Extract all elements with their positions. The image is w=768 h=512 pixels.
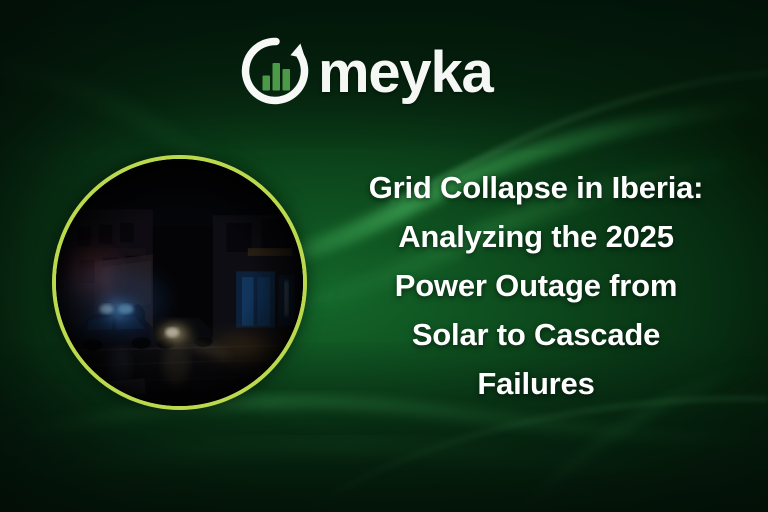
night-street-blackout-photo xyxy=(56,159,303,406)
brand-logo[interactable]: meyka xyxy=(240,33,493,109)
refresh-bar-chart-icon xyxy=(240,35,312,107)
article-banner: meyka xyxy=(0,0,768,512)
brand-wordmark: meyka xyxy=(318,44,493,102)
featured-image-circle xyxy=(52,155,307,410)
page-title: Grid Collapse in Iberia: Analyzing the 2… xyxy=(308,163,764,408)
headline-line-3: Power Outage from xyxy=(308,261,764,310)
headline-line-4: Solar to Cascade xyxy=(308,310,764,359)
headline-line-5: Failures xyxy=(308,359,764,408)
headline-line-1: Grid Collapse in Iberia: xyxy=(308,163,764,212)
headline-line-2: Analyzing the 2025 xyxy=(308,212,764,261)
